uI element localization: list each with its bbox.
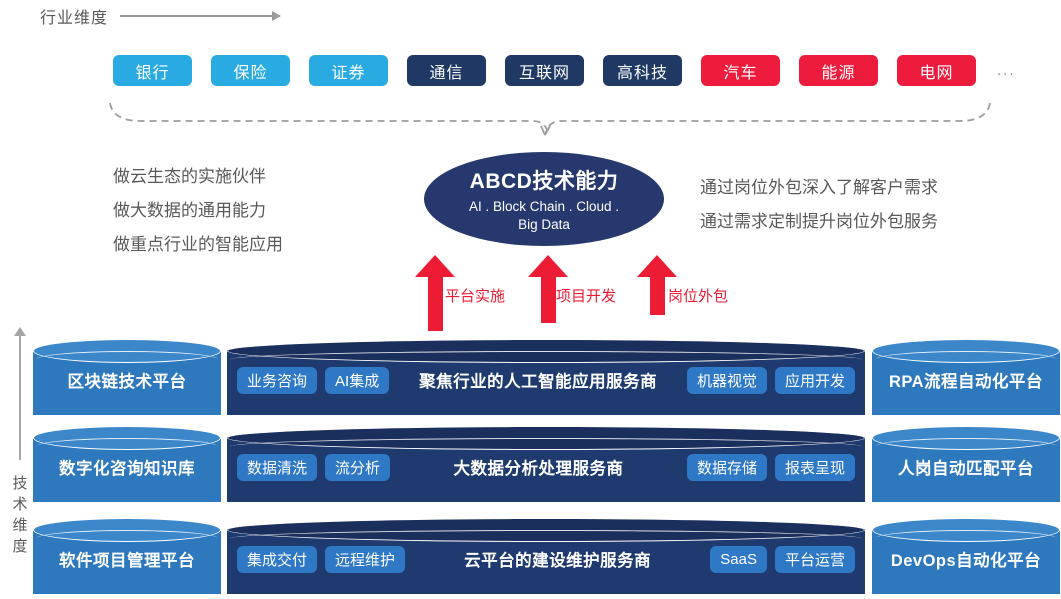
chip-group-left: 数据清洗流分析: [237, 454, 390, 481]
left-platform-cylinder: 软件项目管理平台: [33, 518, 221, 594]
arrow-head: [637, 255, 677, 277]
center-service-cylinder: 数据清洗流分析大数据分析处理服务商数据存储报表呈现: [227, 426, 865, 502]
service-row: 区块链技术平台业务咨询AI集成聚焦行业的人工智能应用服务商机器视觉应用开发RPA…: [0, 339, 1061, 415]
right-statement-line-2: 通过需求定制提升岗位外包服务: [700, 205, 938, 239]
arrow-label: 项目开发: [556, 285, 616, 306]
industry-tag[interactable]: 保险: [211, 55, 290, 86]
center-service-title: 大数据分析处理服务商: [454, 455, 624, 479]
capability-chip[interactable]: 平台运营: [775, 546, 855, 573]
cylinder-content: 业务咨询AI集成聚焦行业的人工智能应用服务商机器视觉应用开发: [227, 359, 865, 401]
center-service-cylinder: 业务咨询AI集成聚焦行业的人工智能应用服务商机器视觉应用开发: [227, 339, 865, 415]
left-statement-block: 做云生态的实施伙伴 做大数据的通用能力 做重点行业的智能应用: [113, 160, 283, 262]
right-platform-cylinder: 人岗自动匹配平台: [872, 426, 1060, 502]
industry-axis-label: 行业维度: [40, 4, 108, 28]
right-platform-label: RPA流程自动化平台: [889, 368, 1043, 392]
arrow-label: 岗位外包: [668, 285, 728, 306]
right-arrow-icon: [120, 15, 280, 17]
industry-tag[interactable]: 银行: [113, 55, 192, 86]
left-statement-line-1: 做云生态的实施伙伴: [113, 160, 283, 194]
cylinder-content: 集成交付远程维护云平台的建设维护服务商SaaS平台运营: [227, 538, 865, 580]
chip-group-left: 业务咨询AI集成: [237, 367, 389, 394]
capability-chip[interactable]: 应用开发: [775, 367, 855, 394]
right-platform-cylinder: RPA流程自动化平台: [872, 339, 1060, 415]
arrow-head: [528, 255, 568, 277]
capability-chip[interactable]: AI集成: [325, 367, 389, 394]
arrow-shaft: [650, 277, 665, 315]
industry-tag[interactable]: 证券: [309, 55, 388, 86]
cylinder-content: RPA流程自动化平台: [872, 359, 1060, 401]
cylinder-content: 人岗自动匹配平台: [872, 446, 1060, 488]
left-platform-cylinder: 数字化咨询知识库: [33, 426, 221, 502]
core-subtitle-line1: AI . Block Chain . Cloud .: [469, 198, 619, 216]
core-subtitle-line2: Big Data: [469, 216, 619, 234]
cylinder-content: 软件项目管理平台: [33, 538, 221, 580]
left-platform-label: 区块链技术平台: [68, 368, 187, 392]
capability-chip[interactable]: 流分析: [325, 454, 390, 481]
center-service-title: 云平台的建设维护服务商: [464, 547, 651, 571]
industry-tag[interactable]: 高科技: [603, 55, 682, 86]
capability-chip[interactable]: 报表呈现: [775, 454, 855, 481]
left-platform-label: 数字化咨询知识库: [59, 455, 195, 479]
industry-tag-list: 银行保险证券通信互联网高科技汽车能源电网...: [113, 55, 1016, 86]
capability-chip[interactable]: SaaS: [710, 546, 767, 573]
cylinder-content: DevOps自动化平台: [872, 538, 1060, 580]
chip-group-right: SaaS平台运营: [710, 546, 855, 573]
chip-group-left: 集成交付远程维护: [237, 546, 405, 573]
left-statement-line-2: 做大数据的通用能力: [113, 194, 283, 228]
service-row: 软件项目管理平台集成交付远程维护云平台的建设维护服务商SaaS平台运营DevOp…: [0, 518, 1061, 594]
service-row: 数字化咨询知识库数据清洗流分析大数据分析处理服务商数据存储报表呈现人岗自动匹配平…: [0, 426, 1061, 502]
center-service-cylinder: 集成交付远程维护云平台的建设维护服务商SaaS平台运营: [227, 518, 865, 594]
capability-chip[interactable]: 机器视觉: [687, 367, 767, 394]
capability-chip[interactable]: 数据存储: [687, 454, 767, 481]
industry-tag[interactable]: 能源: [799, 55, 878, 86]
arrow-shaft: [428, 277, 443, 331]
cylinder-content: 数字化咨询知识库: [33, 446, 221, 488]
cylinder-content: 数据清洗流分析大数据分析处理服务商数据存储报表呈现: [227, 446, 865, 488]
center-service-title: 聚焦行业的人工智能应用服务商: [419, 368, 657, 392]
capability-chip[interactable]: 远程维护: [325, 546, 405, 573]
chip-group-right: 数据存储报表呈现: [687, 454, 855, 481]
industry-tags-more: ...: [995, 62, 1016, 79]
capability-chip[interactable]: 数据清洗: [237, 454, 317, 481]
chip-group-right: 机器视觉应用开发: [687, 367, 855, 394]
right-platform-label: DevOps自动化平台: [891, 547, 1041, 571]
industry-dimension-axis: 行业维度: [40, 4, 280, 28]
industry-tag[interactable]: 汽车: [701, 55, 780, 86]
capability-chip[interactable]: 业务咨询: [237, 367, 317, 394]
left-platform-label: 软件项目管理平台: [59, 547, 195, 571]
industry-tag[interactable]: 互联网: [505, 55, 584, 86]
arrow-label: 平台实施: [445, 285, 505, 306]
diagram-canvas: 行业维度 技术维度 银行保险证券通信互联网高科技汽车能源电网... ABCD技术…: [0, 0, 1061, 599]
arrow-head: [415, 255, 455, 277]
right-platform-label: 人岗自动匹配平台: [898, 455, 1034, 479]
core-title: ABCD技术能力: [470, 165, 619, 195]
core-capability-ellipse: ABCD技术能力 AI . Block Chain . Cloud . Big …: [424, 152, 664, 246]
industry-tag[interactable]: 电网: [897, 55, 976, 86]
right-statement-block: 通过岗位外包深入了解客户需求 通过需求定制提升岗位外包服务: [700, 171, 938, 239]
capability-chip[interactable]: 集成交付: [237, 546, 317, 573]
left-platform-cylinder: 区块链技术平台: [33, 339, 221, 415]
right-platform-cylinder: DevOps自动化平台: [872, 518, 1060, 594]
dashed-bracket: [100, 95, 1000, 155]
industry-tag[interactable]: 通信: [407, 55, 486, 86]
arrow-shaft: [541, 277, 556, 323]
cylinder-content: 区块链技术平台: [33, 359, 221, 401]
right-statement-line-1: 通过岗位外包深入了解客户需求: [700, 171, 938, 205]
left-statement-line-3: 做重点行业的智能应用: [113, 228, 283, 262]
